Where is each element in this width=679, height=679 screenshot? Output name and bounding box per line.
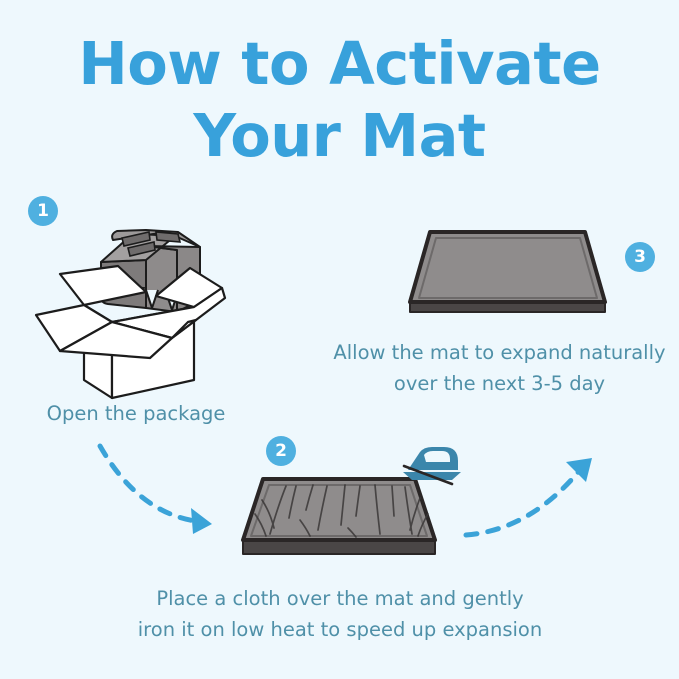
step-1-caption: Open the package: [0, 398, 272, 429]
step-3-caption-line-2: over the next 3-5 day: [320, 368, 679, 399]
step-3-flat-mat-illustration: [410, 232, 605, 312]
step-badge-3[interactable]: 3: [625, 242, 655, 272]
step-2-caption: Place a cloth over the mat and gently ir…: [90, 583, 590, 645]
step-badge-1[interactable]: 1: [28, 196, 58, 226]
dashed-curved-arrow-up-right: [466, 458, 592, 535]
step-2-caption-line-2: iron it on low heat to speed up expansio…: [90, 614, 590, 645]
step-1-caption-line-1: Open the package: [0, 398, 272, 429]
step-badge-2[interactable]: 2: [266, 436, 296, 466]
infographic-canvas: How to Activate Your Mat: [0, 0, 679, 679]
iron-icon: [403, 447, 461, 484]
step-2-caption-line-1: Place a cloth over the mat and gently: [90, 583, 590, 614]
step-3-caption-line-1: Allow the mat to expand naturally: [320, 337, 679, 368]
cardboard-box: [36, 266, 225, 398]
dashed-curved-arrow-down-right: [100, 446, 212, 534]
step-1-box-illustration: [36, 230, 225, 398]
step-2-wrinkled-mat-illustration: [243, 479, 435, 554]
step-3-caption: Allow the mat to expand naturally over t…: [320, 337, 679, 399]
